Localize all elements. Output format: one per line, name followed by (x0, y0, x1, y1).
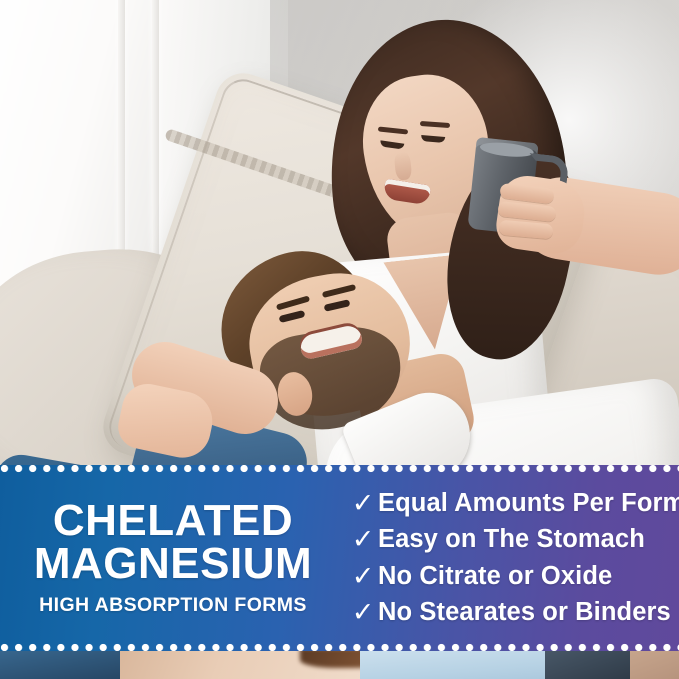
check-icon: ✓ (348, 490, 378, 517)
feature-item: ✓ Easy on The Stomach (348, 525, 679, 554)
product-subtitle: HIGH ABSORPTION FORMS (6, 594, 340, 617)
dotted-border-top (0, 465, 679, 473)
feature-list: ✓ Equal Amounts Per Form ✓ Easy on The S… (340, 481, 679, 635)
dotted-border-bottom (0, 643, 679, 651)
feature-label: No Stearates or Binders (378, 598, 671, 627)
feature-label: Easy on The Stomach (378, 525, 645, 554)
check-icon: ✓ (348, 526, 378, 553)
check-icon: ✓ (348, 599, 378, 626)
check-icon: ✓ (348, 563, 378, 590)
feature-item: ✓ No Citrate or Oxide (348, 562, 679, 591)
product-title-line1: CHELATED (6, 499, 340, 542)
promo-banner: CHELATED MAGNESIUM HIGH ABSORPTION FORMS… (0, 465, 679, 651)
feature-label: No Citrate or Oxide (378, 562, 612, 591)
feature-item: ✓ No Stearates or Binders (348, 598, 679, 627)
feature-label: Equal Amounts Per Form (378, 489, 679, 518)
product-title-block: CHELATED MAGNESIUM HIGH ABSORPTION FORMS (0, 499, 340, 617)
product-lifestyle-image: CHELATED MAGNESIUM HIGH ABSORPTION FORMS… (0, 0, 679, 679)
product-title-line2: MAGNESIUM (6, 542, 340, 585)
feature-item: ✓ Equal Amounts Per Form (348, 489, 679, 518)
